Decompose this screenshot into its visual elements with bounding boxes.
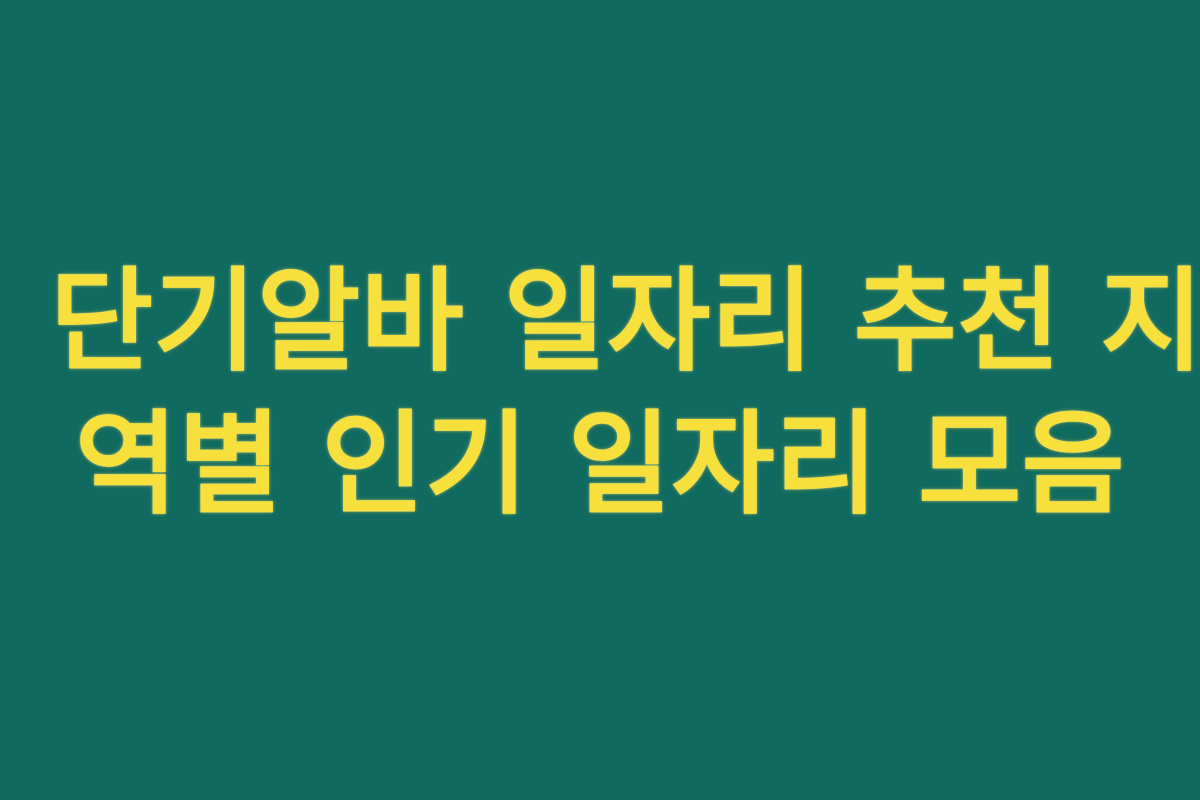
headline-line-2: 역별 인기 일자리 모음 xyxy=(50,394,1150,537)
headline-block: 단기알바 일자리 추천 지 역별 인기 일자리 모음 xyxy=(50,251,1150,537)
banner-canvas: 단기알바 일자리 추천 지 역별 인기 일자리 모음 xyxy=(0,0,1200,800)
headline-line-1: 단기알바 일자리 추천 지 xyxy=(50,251,1150,394)
